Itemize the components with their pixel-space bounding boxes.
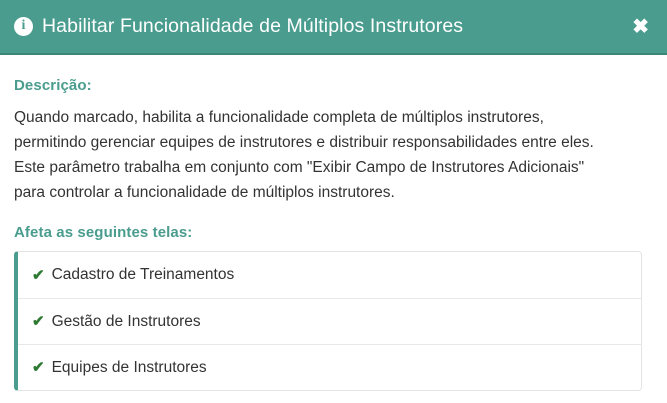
affected-screens-list: ✔ Cadastro de Treinamentos ✔ Gestão de I… [14, 251, 642, 391]
list-item-label: Equipes de Instrutores [52, 359, 207, 377]
list-item: ✔ Gestão de Instrutores [18, 298, 641, 344]
affected-screens-heading: Afeta as seguintes telas: [14, 224, 653, 241]
close-button[interactable]: ✖ [628, 15, 653, 39]
modal-header-title-group: i Habilitar Funcionalidade de Múltiplos … [14, 15, 463, 38]
list-item-label: Gestão de Instrutores [52, 313, 201, 331]
info-circle-icon: i [14, 17, 33, 36]
modal-body: Descrição: Quando marcado, habilita a fu… [0, 55, 667, 403]
check-icon: ✔ [32, 268, 45, 283]
description-heading: Descrição: [14, 77, 653, 94]
check-icon: ✔ [32, 314, 45, 329]
modal-header: i Habilitar Funcionalidade de Múltiplos … [0, 0, 667, 55]
list-item-label: Cadastro de Treinamentos [52, 266, 235, 284]
list-item: ✔ Cadastro de Treinamentos [18, 252, 641, 298]
list-item: ✔ Equipes de Instrutores [18, 344, 641, 390]
info-modal: i Habilitar Funcionalidade de Múltiplos … [0, 0, 667, 403]
modal-title: Habilitar Funcionalidade de Múltiplos In… [42, 15, 463, 38]
description-text: Quando marcado, habilita a funcionalidad… [14, 105, 614, 205]
check-icon: ✔ [32, 360, 45, 375]
